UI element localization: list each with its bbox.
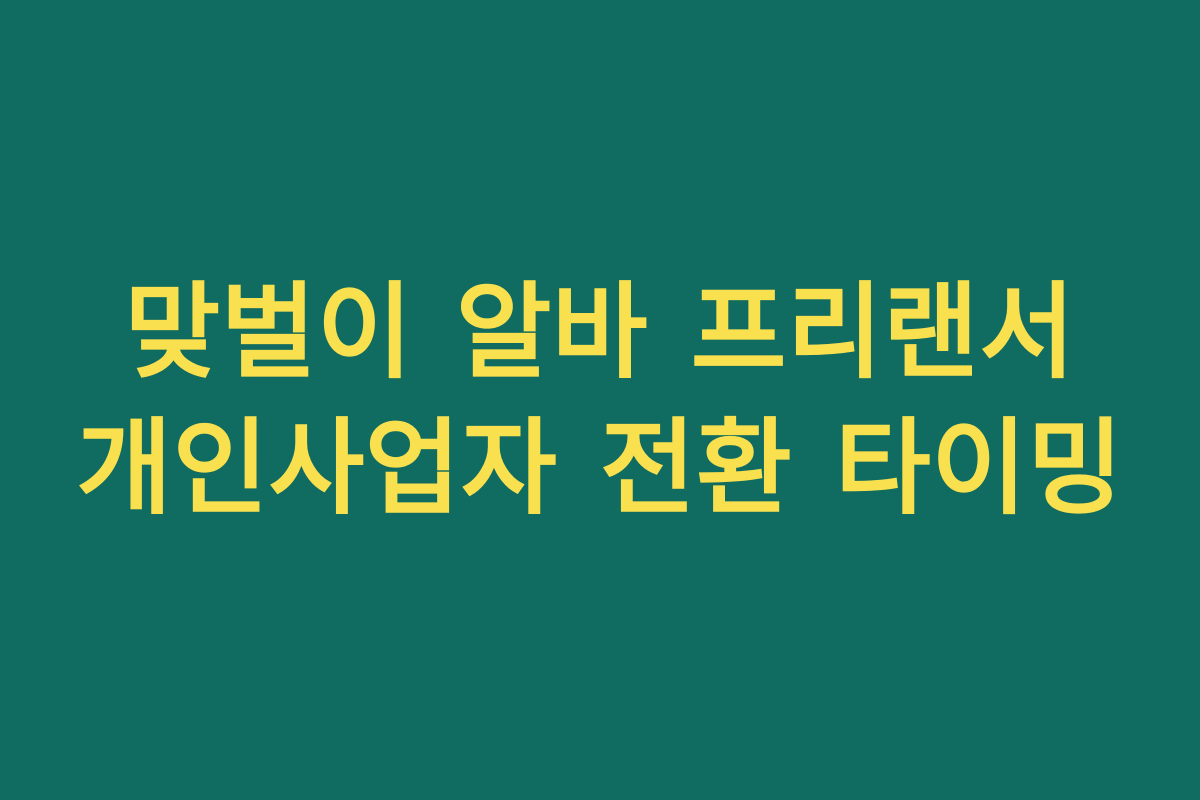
page-title: 맞벌이 알바 프리랜서 개인사업자 전환 타이밍 [70,264,1130,536]
banner-canvas: 맞벌이 알바 프리랜서 개인사업자 전환 타이밍 [0,0,1200,800]
